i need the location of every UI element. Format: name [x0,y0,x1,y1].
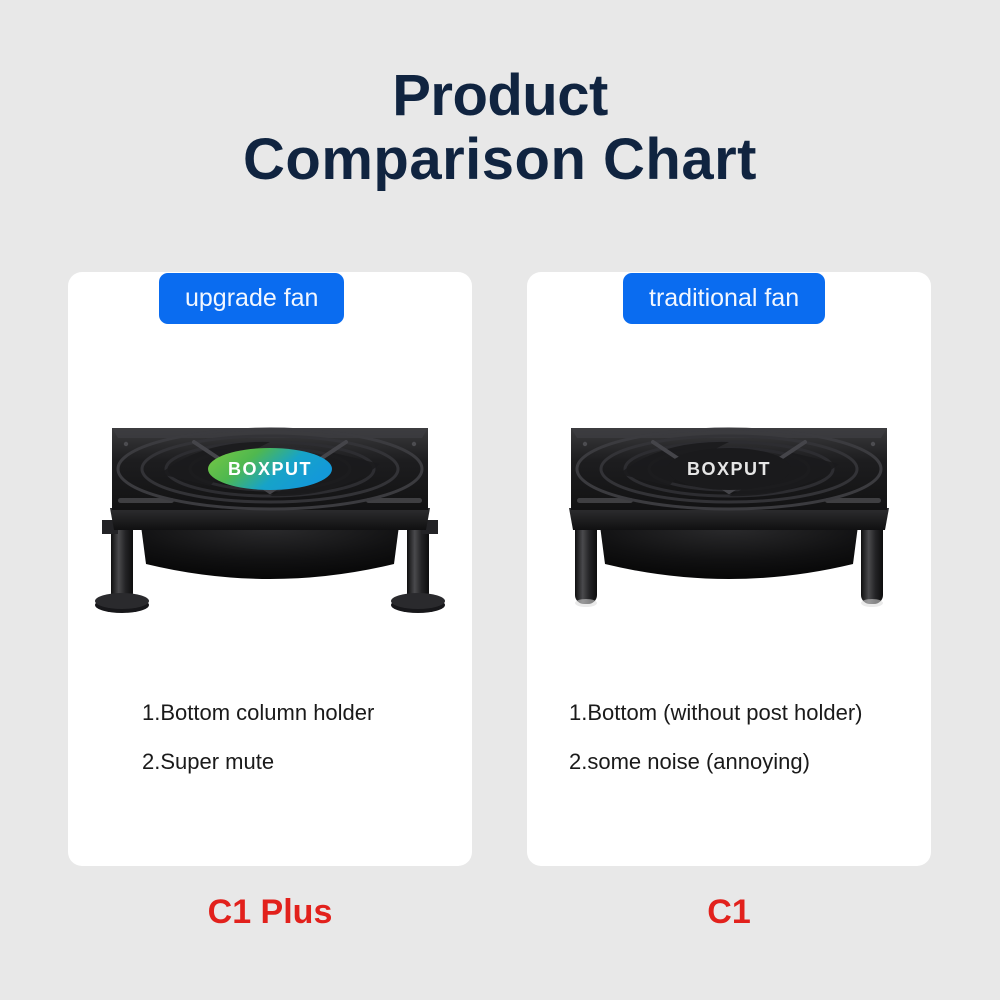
product-logo-text-traditional: BOXPUT [687,459,771,479]
model-label-row: C1 Plus C1 [68,890,938,940]
product-card-traditional[interactable]: traditional fan [527,272,931,866]
feature-item: 1.Bottom (without post holder) [569,700,929,726]
page-title-line-2: Comparison Chart [0,128,1000,192]
product-card-upgrade[interactable]: upgrade fan [68,272,472,866]
feature-list-traditional: 1.Bottom (without post holder) 2.some no… [569,700,929,798]
feature-item: 2.Super mute [142,749,472,775]
feature-list-upgrade: 1.Bottom column holder 2.Super mute [142,700,472,798]
model-label-c1-plus: C1 Plus [68,890,472,934]
cooling-fan-without-post-holder-icon: BOXPUT [541,412,917,642]
badge-upgrade-fan: upgrade fan [159,273,344,324]
product-image-traditional-fan: BOXPUT [541,412,917,642]
product-logo-text-upgrade: BOXPUT [228,459,312,479]
page-title-line-1: Product [0,64,1000,128]
product-image-upgrade-fan: BOXPUT [82,412,458,642]
model-label-c1: C1 [527,890,931,934]
feature-item: 2.some noise (annoying) [569,749,929,775]
page-title: Product Comparison Chart [0,64,1000,192]
cooling-fan-with-column-holder-icon: BOXPUT [82,412,458,642]
badge-traditional-fan: traditional fan [623,273,825,324]
comparison-cards: upgrade fan [68,272,938,866]
feature-item: 1.Bottom column holder [142,700,472,726]
